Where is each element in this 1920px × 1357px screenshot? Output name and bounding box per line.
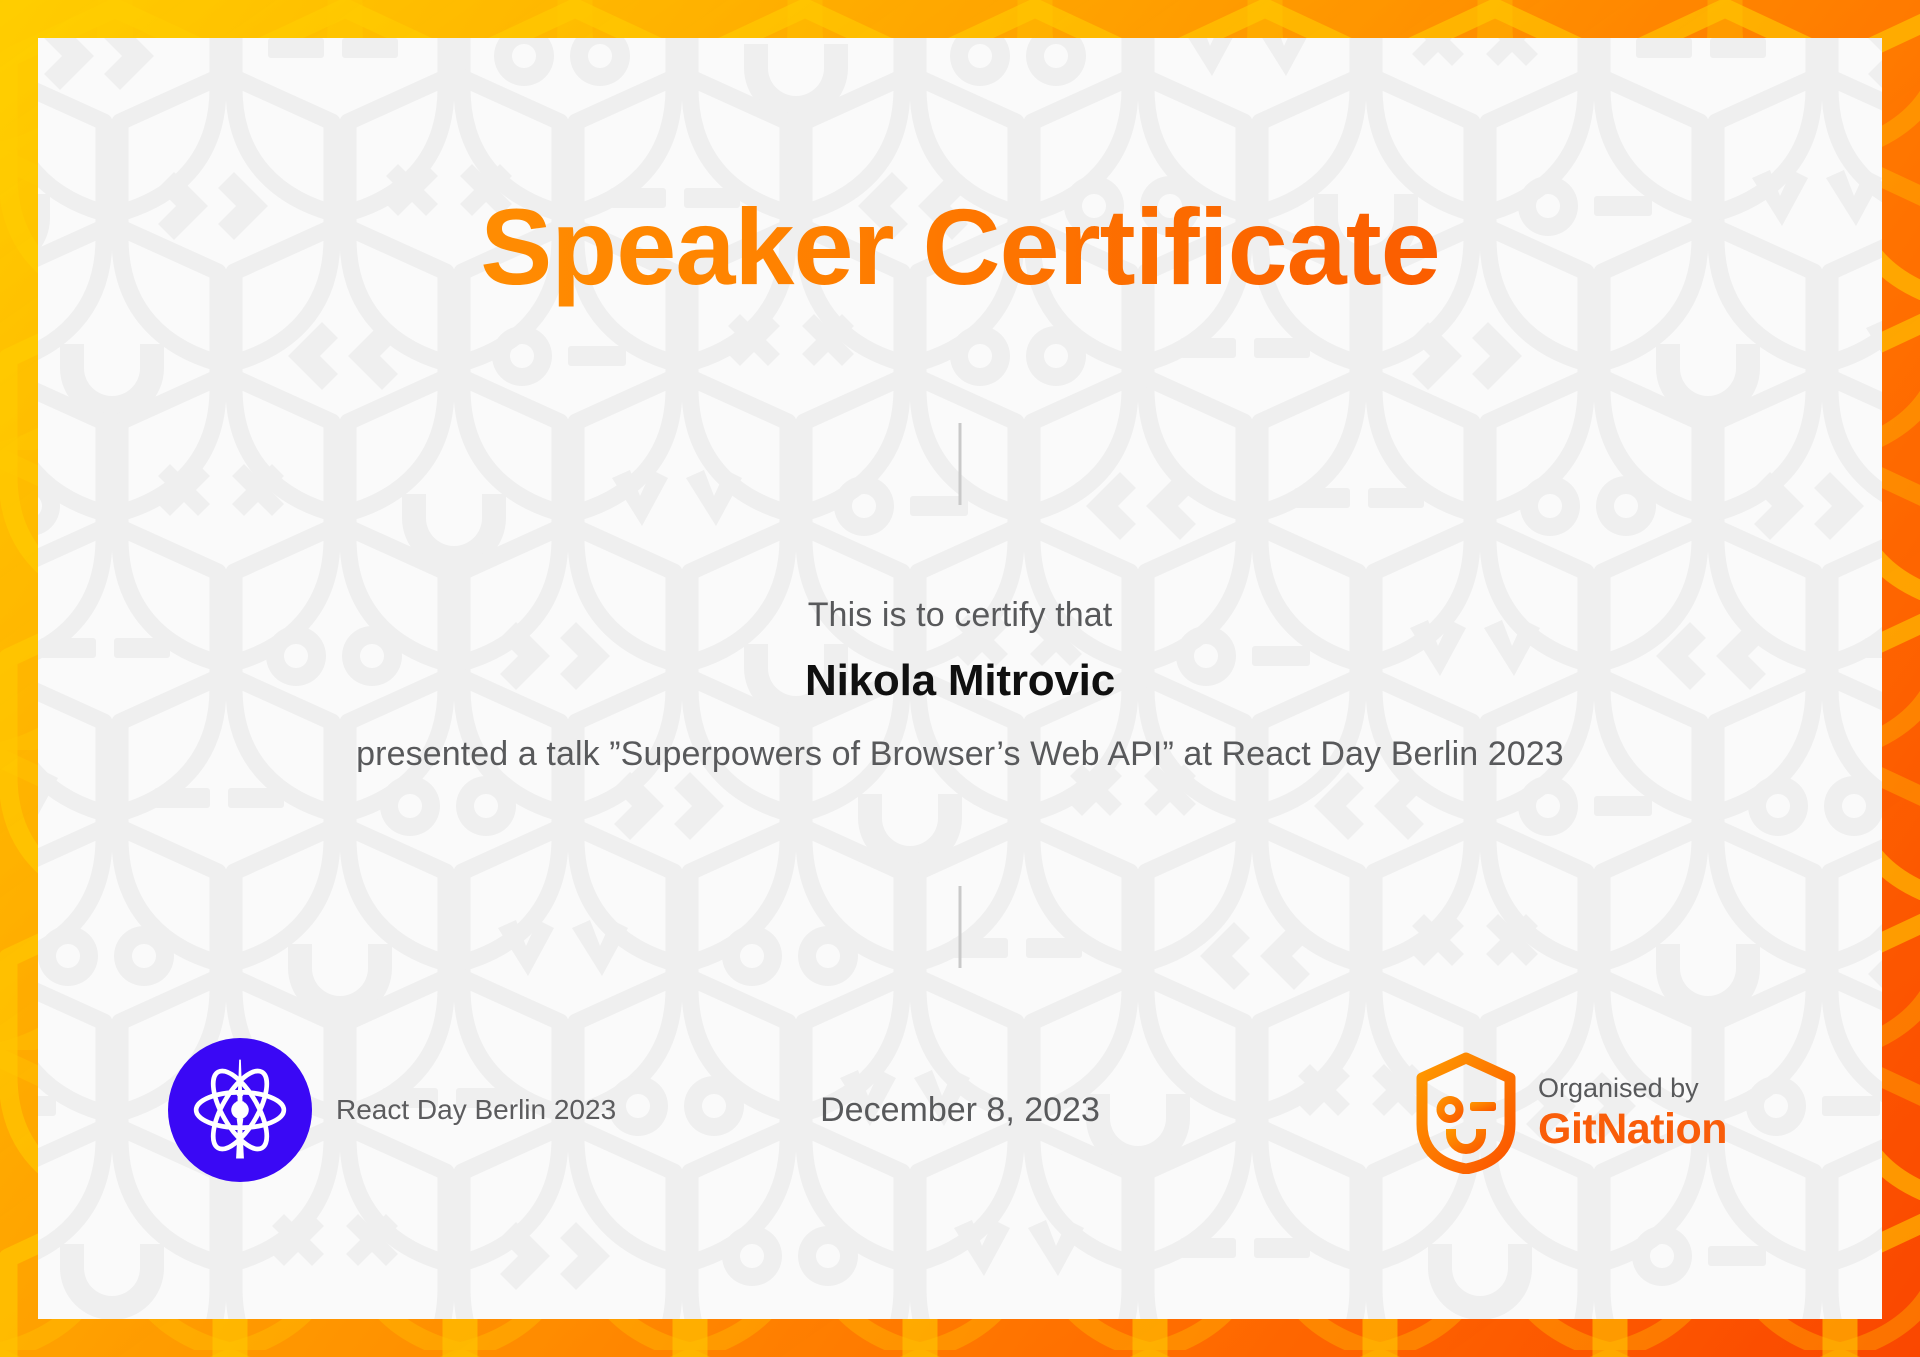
divider-top xyxy=(959,423,962,505)
event-label: React Day Berlin 2023 xyxy=(336,1094,616,1126)
certificate-title: Speaker Certificate xyxy=(38,188,1882,307)
gitnation-shield-logo-icon xyxy=(1414,1052,1518,1174)
certificate-footer: React Day Berlin 2023 December 8, 2023 xyxy=(38,1038,1882,1218)
certificate-date: December 8, 2023 xyxy=(820,1091,1100,1130)
organised-by-label: Organised by xyxy=(1538,1073,1727,1104)
react-day-berlin-logo-icon xyxy=(168,1038,312,1182)
certify-line: This is to certify that xyxy=(38,596,1882,635)
talk-description-line: presented a talk ”Superpowers of Browser… xyxy=(38,735,1882,774)
certificate-card: Speaker Certificate This is to certify t… xyxy=(38,38,1882,1319)
event-block: React Day Berlin 2023 xyxy=(168,1038,616,1182)
gitnation-name: GitNation xyxy=(1538,1106,1727,1153)
gitnation-wordmark: Organised by GitNation xyxy=(1538,1073,1727,1153)
recipient-name: Nikola Mitrovic xyxy=(38,656,1882,706)
divider-bottom xyxy=(959,886,962,968)
organiser-block: Organised by GitNation xyxy=(1414,1052,1727,1174)
speaker-certificate: Speaker Certificate This is to certify t… xyxy=(0,0,1920,1357)
react-atom-tv-tower-glyph xyxy=(184,1054,296,1166)
